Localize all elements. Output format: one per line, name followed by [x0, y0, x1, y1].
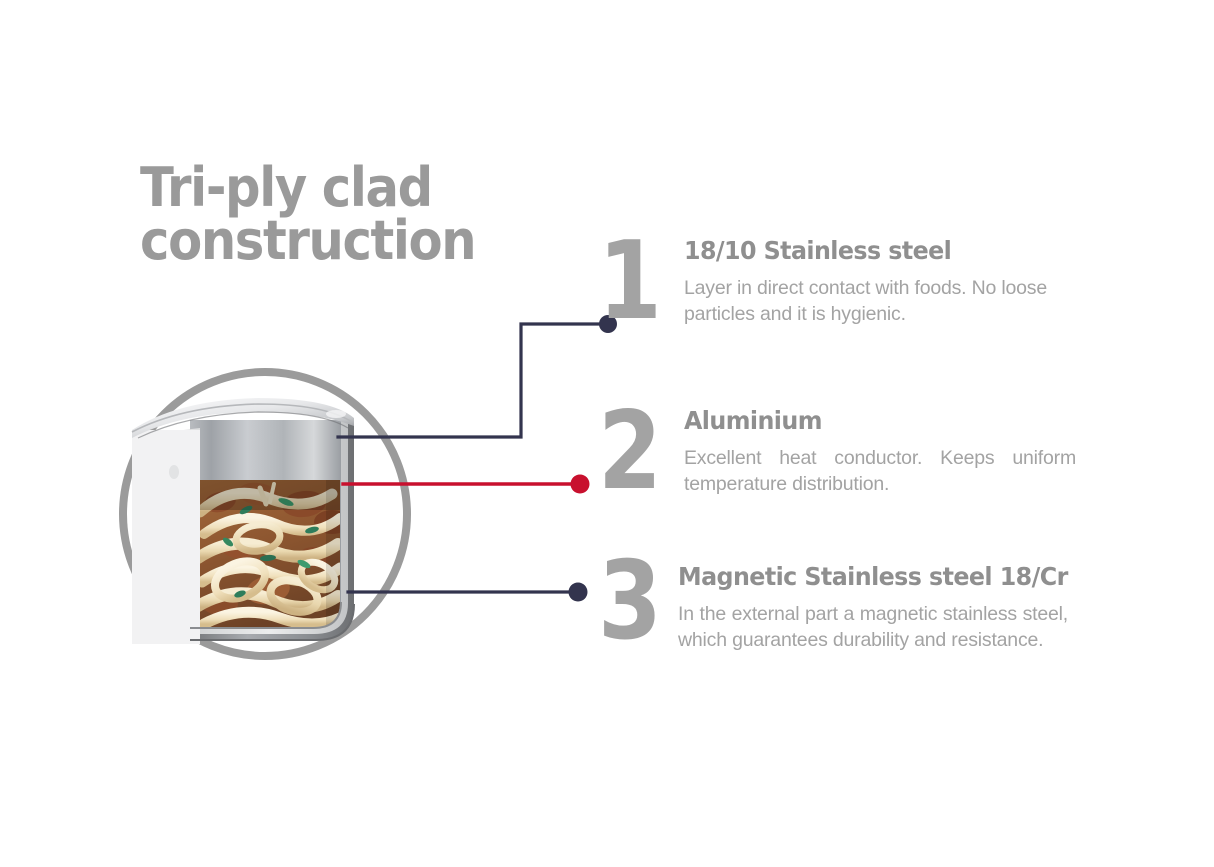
layer-number-2: 2	[598, 398, 659, 506]
layer-number-1: 1	[598, 228, 659, 336]
layer-body-2: Aluminium Excellent heat conductor. Keep…	[684, 406, 1076, 497]
page-title: Tri-ply clad construction	[140, 162, 526, 268]
layer-number-3: 3	[598, 548, 659, 656]
layer-body-3: Magnetic Stainless steel 18/Cr In the ex…	[678, 562, 1088, 653]
layer-text-3: In the external part a magnetic stainles…	[678, 602, 1068, 653]
pot-cut-face-plane	[132, 430, 200, 644]
rim-highlight	[326, 410, 346, 418]
title-line-2: construction	[140, 215, 526, 268]
infographic-canvas: Tri-ply clad construction	[0, 0, 1214, 867]
cut-face-highlight	[169, 465, 179, 479]
pot-cutaway-illustration	[108, 352, 428, 674]
layer-text-1: Layer in direct contact with foods. No l…	[684, 276, 1084, 327]
layer-heading-2: Aluminium	[684, 406, 1056, 435]
food-pasta	[196, 480, 350, 630]
pot-cutaway-svg	[108, 352, 428, 674]
layer-text-2: Excellent heat conductor. Keeps uniform …	[684, 446, 1076, 497]
connector-dot-3	[569, 583, 588, 602]
layer-heading-1: 18/10 Stainless steel	[684, 236, 1064, 265]
layer-body-1: 18/10 Stainless steel Layer in direct co…	[684, 236, 1084, 327]
connector-dot-2	[571, 475, 590, 494]
layer-heading-3: Magnetic Stainless steel 18/Cr	[678, 562, 1068, 591]
